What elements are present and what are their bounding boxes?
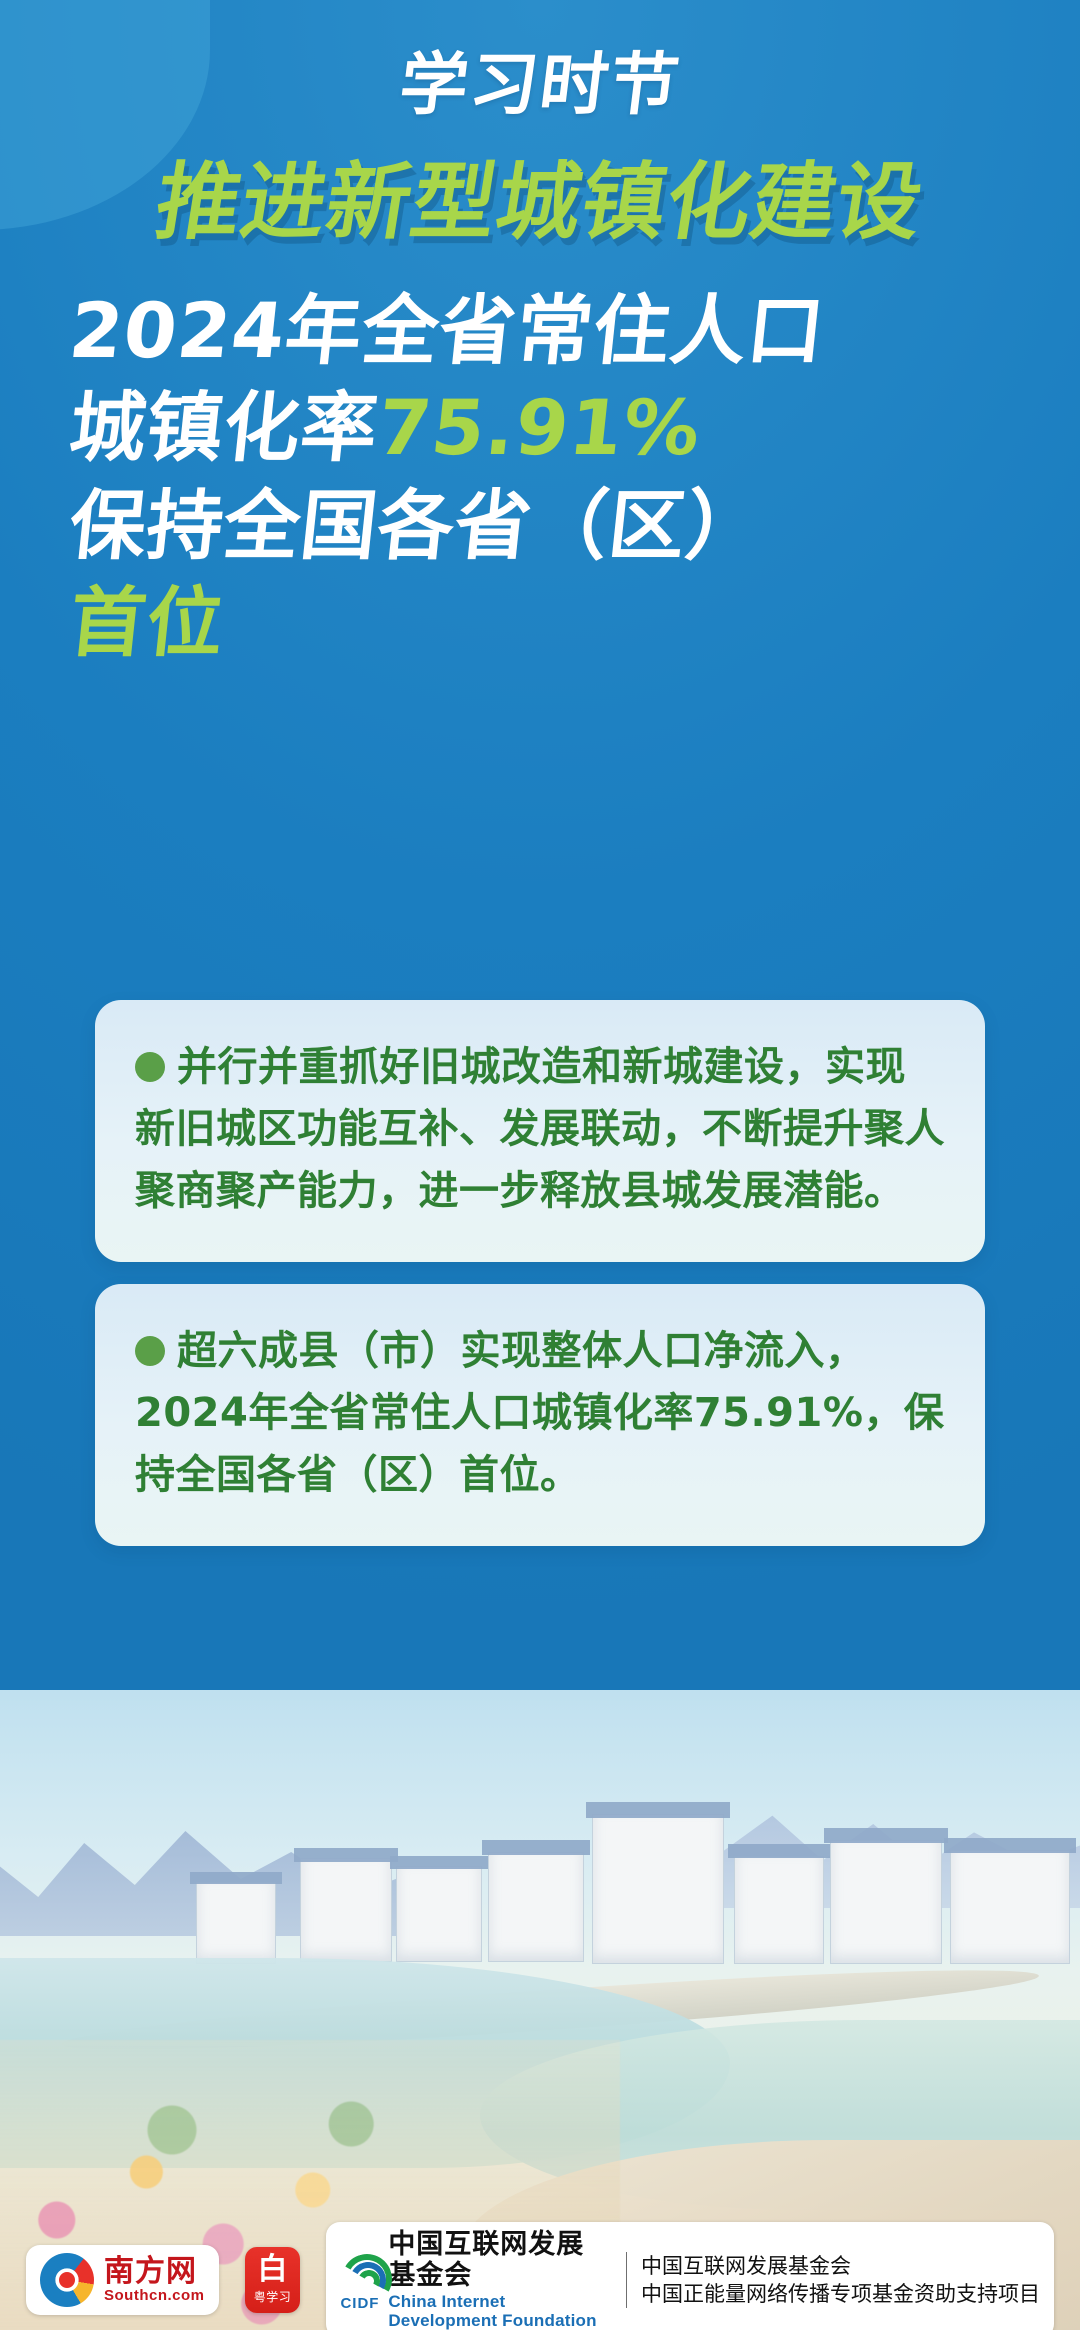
illustration-building — [592, 1814, 724, 1964]
cidf-logo-block[interactable]: CIDF 中国互联网发展基金会 China Internet Developme… — [326, 2222, 1054, 2330]
illustration-roof — [824, 1828, 948, 1843]
masthead: 学习时节 — [0, 52, 1080, 120]
subtitle-line-4: 首位 — [65, 574, 1015, 671]
cidf-label-en: China Internet Development Foundation — [388, 2292, 611, 2330]
illustration-building — [488, 1852, 584, 1962]
info-card-1-text: 并行并重抓好旧城改造和新城建设，实现新旧城区功能互补、发展联动，不断提升聚人聚商… — [135, 1044, 945, 1214]
subtitle-line-1: 2024年全省常住人口 — [65, 282, 1015, 379]
illustration-roof — [482, 1840, 590, 1855]
fund-credit: 中国互联网发展基金会 中国正能量网络传播专项基金资助支持项目 — [641, 2252, 1040, 2309]
subtitle-line-3: 保持全国各省（区） — [65, 477, 1015, 574]
illustration-building — [830, 1840, 942, 1964]
illustration-roof — [390, 1856, 488, 1869]
illustration-building — [196, 1882, 276, 1964]
headline: 推进新型城镇化建设 — [0, 158, 1080, 247]
illustration-building — [734, 1856, 824, 1964]
southcn-mark-icon — [40, 2253, 94, 2307]
southcn-label-cn: 南方网 — [104, 2256, 205, 2288]
southcn-label-en: Southcn.com — [104, 2288, 205, 2304]
yuexuexi-logo[interactable]: 白 粤学习 — [245, 2247, 301, 2313]
headline-text: 推进新型城镇化建设 — [150, 158, 929, 247]
illustration-roof — [586, 1802, 730, 1818]
cidf-text: 中国互联网发展基金会 China Internet Development Fo… — [388, 2229, 611, 2330]
cidf-abbr-label: CIDF — [340, 2295, 379, 2312]
illustration-building — [950, 1850, 1070, 1964]
illustration-roof — [190, 1872, 282, 1884]
info-card-2-text: 超六成县（市）实现整体人口净流入，2024年全省常住人口城镇化率75.91%，保… — [135, 1328, 944, 1498]
cidf-wifi-icon: CIDF — [340, 2254, 378, 2306]
subtitle-block: 2024年全省常住人口 城镇化率75.91% 保持全国各省（区） 首位 — [70, 282, 1010, 671]
illustration-roof — [944, 1838, 1076, 1853]
illustration-building — [396, 1866, 482, 1962]
illustration-building — [300, 1858, 392, 1962]
info-card-2: 超六成县（市）实现整体人口净流入，2024年全省常住人口城镇化率75.91%，保… — [95, 1284, 985, 1546]
poster-root: 学习时节 推进新型城镇化建设 2024年全省常住人口 城镇化率75.91% 保持… — [0, 0, 1080, 2330]
bullet-dot-icon — [135, 1052, 165, 1082]
southcn-logo[interactable]: 南方网 Southcn.com — [26, 2245, 219, 2315]
subtitle-line-2: 城镇化率75.91% — [65, 379, 1015, 476]
fund-credit-line-1: 中国互联网发展基金会 — [641, 2252, 1040, 2280]
subtitle-rate-value: 75.91% — [373, 383, 705, 472]
yuexuexi-label: 粤学习 — [254, 2288, 292, 2305]
illustration-roof — [294, 1848, 398, 1862]
illustration-roof — [728, 1844, 830, 1858]
fund-credit-line-2: 中国正能量网络传播专项基金资助支持项目 — [641, 2280, 1040, 2308]
footer-logo-bar: 南方网 Southcn.com 白 粤学习 CIDF 中国互联网发展基金会 Ch… — [0, 2230, 1080, 2330]
subtitle-line-2-prefix: 城镇化率 — [65, 383, 382, 472]
cidf-label-cn: 中国互联网发展基金会 — [388, 2229, 611, 2291]
footer-divider — [626, 2252, 627, 2308]
bullet-dot-icon — [135, 1336, 165, 1366]
masthead-title: 学习时节 — [396, 52, 684, 120]
yuexuexi-glyph-icon: 白 — [257, 2255, 287, 2285]
info-card-2-body: 超六成县（市）实现整体人口净流入，2024年全省常住人口城镇化率75.91%，保… — [135, 1320, 945, 1506]
info-card-1: 并行并重抓好旧城改造和新城建设，实现新旧城区功能互补、发展联动，不断提升聚人聚商… — [95, 1000, 985, 1262]
info-card-1-body: 并行并重抓好旧城改造和新城建设，实现新旧城区功能互补、发展联动，不断提升聚人聚商… — [135, 1036, 945, 1222]
southcn-text: 南方网 Southcn.com — [104, 2256, 205, 2303]
cards-list: 并行并重抓好旧城改造和新城建设，实现新旧城区功能互补、发展联动，不断提升聚人聚商… — [0, 1000, 1080, 1568]
